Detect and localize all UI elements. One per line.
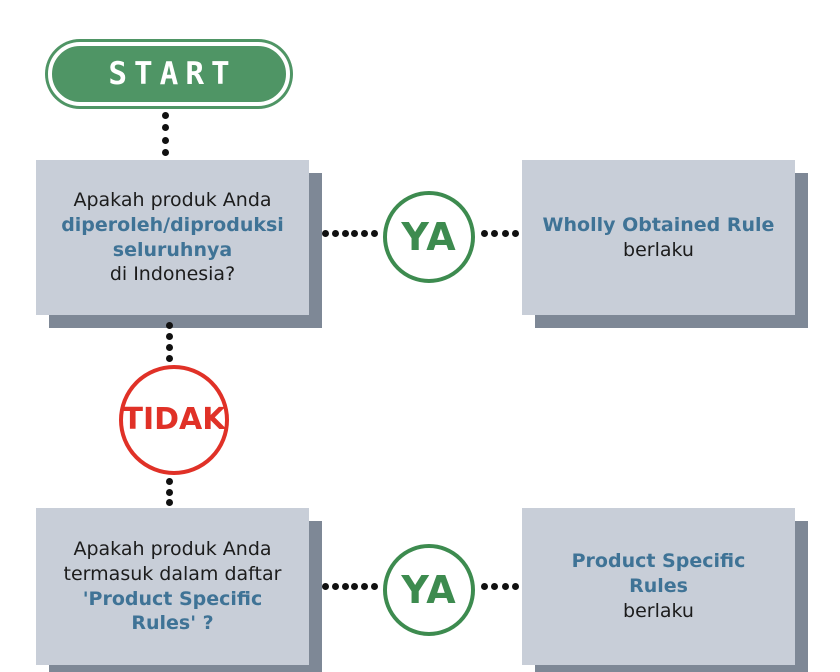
outcome-1-line: berlaku: [623, 238, 694, 263]
connector-dot: [502, 583, 509, 590]
connector-dot: [166, 355, 173, 362]
connector-dot: [322, 583, 329, 590]
connector-question-2-to-yes: [322, 583, 378, 590]
connector-dot: [342, 230, 349, 237]
outcome-2-line: berlaku: [623, 599, 694, 624]
connector-dot: [162, 112, 169, 119]
connector-start-to-question-1: [162, 112, 169, 156]
question-2-line: Rules' ?: [131, 611, 213, 636]
connector-dot: [166, 333, 173, 340]
question-1-line: Apakah produk Anda: [73, 188, 271, 213]
question-1-line: diperoleh/diproduksi: [61, 213, 284, 238]
question-1-box[interactable]: Apakah produk Anda diperoleh/diproduksi …: [36, 160, 309, 315]
flowchart-canvas: START Apakah produk Anda diperoleh/dipro…: [0, 0, 840, 672]
question-2-line: termasuk dalam daftar: [64, 562, 282, 587]
connector-dot: [162, 149, 169, 156]
outcome-1-line: Wholly Obtained Rule: [543, 213, 775, 238]
connector-question-1-to-no: [166, 322, 173, 362]
connector-question-1-to-yes: [322, 230, 378, 237]
start-node[interactable]: START: [48, 42, 290, 106]
connector-dot: [502, 230, 509, 237]
question-2-box[interactable]: Apakah produk Anda termasuk dalam daftar…: [36, 508, 309, 665]
connector-dot: [166, 489, 173, 496]
question-2-line: Apakah produk Anda: [73, 537, 271, 562]
connector-dot: [162, 137, 169, 144]
connector-dot: [491, 230, 498, 237]
decision-yes-top-label: YA: [401, 218, 456, 256]
connector-dot: [322, 230, 329, 237]
question-2-line: 'Product Specific: [83, 587, 263, 612]
outcome-product-specific-rules-box[interactable]: Product Specific Rules berlaku: [522, 508, 795, 665]
question-1-line: di Indonesia?: [110, 262, 235, 287]
connector-dot: [512, 583, 519, 590]
decision-yes-bottom[interactable]: YA: [383, 544, 475, 636]
connector-yes-to-outcome-1: [481, 230, 519, 237]
connector-dot: [512, 230, 519, 237]
connector-dot: [361, 230, 368, 237]
connector-dot: [166, 344, 173, 351]
connector-dot: [491, 583, 498, 590]
decision-no-label: TIDAK: [123, 405, 226, 435]
connector-dot: [166, 499, 173, 506]
connector-yes-to-outcome-2: [481, 583, 519, 590]
outcome-wholly-obtained-box[interactable]: Wholly Obtained Rule berlaku: [522, 160, 795, 315]
connector-dot: [361, 583, 368, 590]
connector-dot: [371, 583, 378, 590]
decision-yes-top[interactable]: YA: [383, 191, 475, 283]
connector-dot: [332, 230, 339, 237]
connector-dot: [351, 583, 358, 590]
connector-dot: [371, 230, 378, 237]
box-surface: Apakah produk Anda diperoleh/diproduksi …: [36, 160, 309, 315]
connector-dot: [481, 583, 488, 590]
connector-dot: [351, 230, 358, 237]
connector-dot: [166, 478, 173, 485]
box-surface: Product Specific Rules berlaku: [522, 508, 795, 665]
decision-yes-bottom-label: YA: [401, 571, 456, 609]
connector-dot: [342, 583, 349, 590]
connector-dot: [166, 322, 173, 329]
connector-dot: [332, 583, 339, 590]
outcome-2-line: Product Specific: [572, 549, 746, 574]
connector-dot: [481, 230, 488, 237]
start-node-label: START: [101, 59, 236, 90]
box-surface: Wholly Obtained Rule berlaku: [522, 160, 795, 315]
decision-no[interactable]: TIDAK: [119, 365, 229, 475]
question-1-line: seluruhnya: [113, 238, 232, 263]
outcome-2-line: Rules: [629, 574, 688, 599]
box-surface: Apakah produk Anda termasuk dalam daftar…: [36, 508, 309, 665]
connector-dot: [162, 124, 169, 131]
connector-no-to-question-2: [166, 478, 173, 506]
